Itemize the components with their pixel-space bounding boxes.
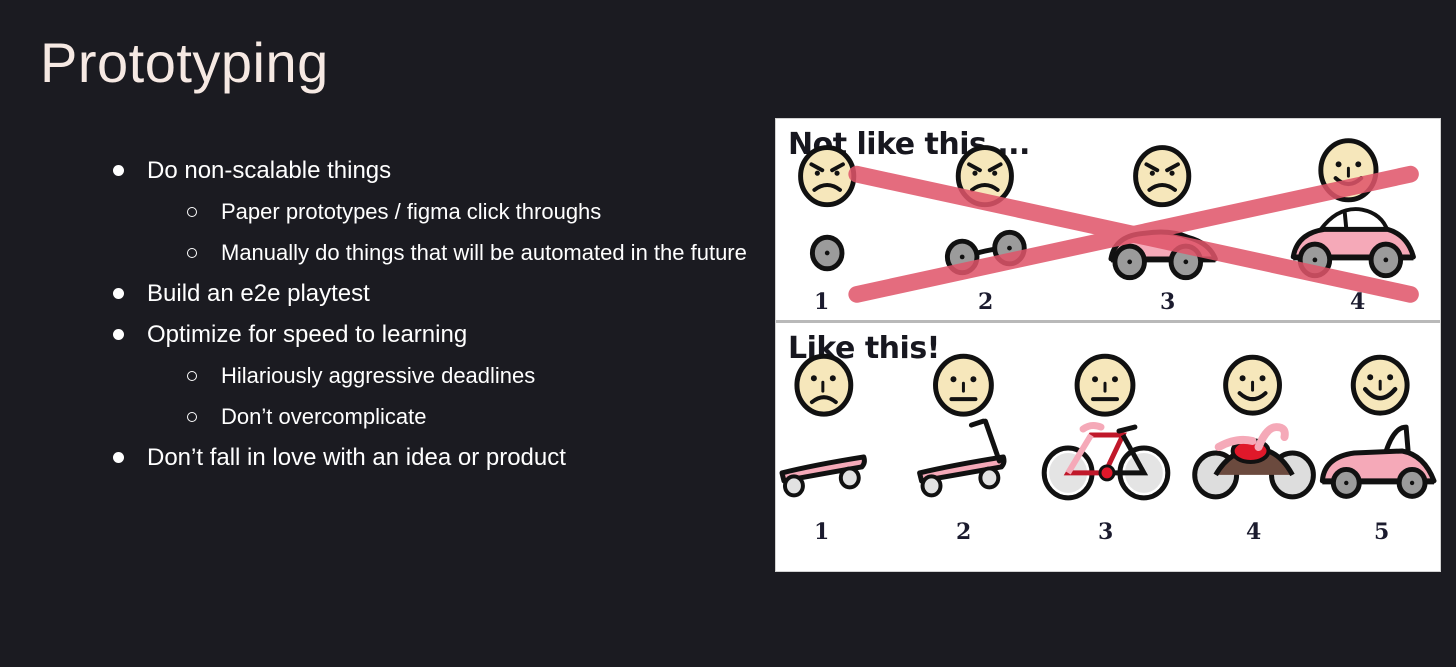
stage-number: 3 <box>1098 519 1113 545</box>
stage-3-graphic <box>1111 148 1215 278</box>
list-item: Optimize for speed to learning <box>100 314 760 355</box>
stage-number: 3 <box>1160 289 1175 315</box>
list-item: Don’t overcomplicate <box>174 396 760 437</box>
slide: Prototyping Do non-scalable things Paper… <box>0 0 1456 667</box>
list-item: Don’t fall in love with an idea or produ… <box>100 437 760 478</box>
bullet-disc-icon <box>100 150 147 191</box>
bullet-list: Do non-scalable things Paper prototypes … <box>100 150 760 478</box>
bullet-disc-icon <box>100 273 147 314</box>
page-title: Prototyping <box>40 32 329 94</box>
bullet-circle-icon <box>174 232 221 273</box>
stage-1-graphic <box>801 148 854 269</box>
list-item-label: Optimize for speed to learning <box>147 314 760 355</box>
list-item: Hilariously aggressive deadlines <box>174 355 760 396</box>
like-this-panel: Like this! <box>776 323 1440 570</box>
stage-number: 5 <box>1374 519 1389 545</box>
stage-number: 4 <box>1350 289 1365 315</box>
list-item-label: Paper prototypes / figma click throughs <box>221 191 760 232</box>
list-item: Do non-scalable things <box>100 150 760 191</box>
stage-2-graphic <box>947 148 1024 273</box>
stage-3-graphic <box>1044 356 1168 498</box>
list-item-label: Build an e2e playtest <box>147 273 760 314</box>
stage-5-graphic <box>1322 357 1434 496</box>
stage-number: 2 <box>978 289 993 315</box>
stage-number: 1 <box>814 519 829 545</box>
list-item: Manually do things that will be automate… <box>174 232 760 273</box>
not-like-this-panel: Not like this.... <box>776 119 1440 323</box>
mvp-illustration: Not like this.... <box>775 118 1441 572</box>
stage-4-graphic <box>1293 141 1413 276</box>
bullet-disc-icon <box>100 314 147 355</box>
list-item-label: Manually do things that will be automate… <box>221 232 760 273</box>
list-item-label: Do non-scalable things <box>147 150 760 191</box>
stage-1-graphic <box>782 356 864 495</box>
not-like-this-heading: Not like this.... <box>788 127 1030 162</box>
like-this-heading: Like this! <box>788 331 940 366</box>
list-item: Build an e2e playtest <box>100 273 760 314</box>
stage-2-graphic <box>920 356 1004 495</box>
list-item-label: Don’t overcomplicate <box>221 396 760 437</box>
bullet-circle-icon <box>174 191 221 232</box>
stage-number: 1 <box>814 289 829 315</box>
stage-number: 2 <box>956 519 971 545</box>
list-item-label: Don’t fall in love with an idea or produ… <box>147 437 760 478</box>
list-item: Paper prototypes / figma click throughs <box>174 191 760 232</box>
red-cross-out-icon <box>857 174 1411 294</box>
stage-4-graphic <box>1195 357 1314 497</box>
stage-number: 4 <box>1246 519 1261 545</box>
bullet-disc-icon <box>100 437 147 478</box>
list-item-label: Hilariously aggressive deadlines <box>221 355 760 396</box>
bullet-circle-icon <box>174 355 221 396</box>
bullet-circle-icon <box>174 396 221 437</box>
